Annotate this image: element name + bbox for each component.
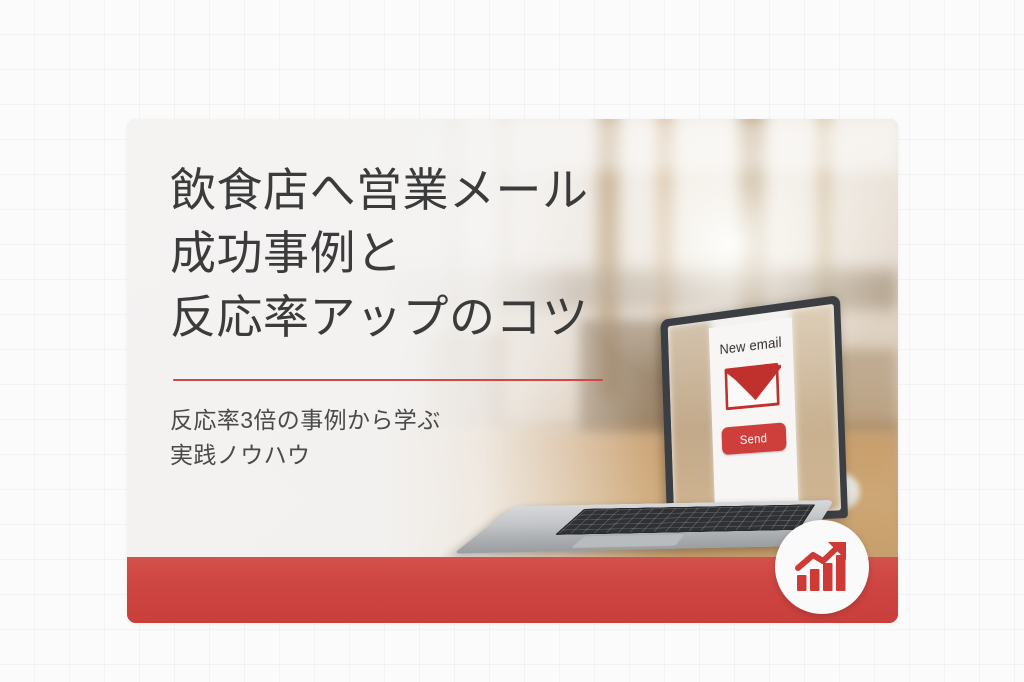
banner-title-line-2: 成功事例と bbox=[170, 222, 770, 285]
page-background: New email Send bbox=[0, 0, 1024, 682]
banner-subtitle-line-1: 反応率3倍の事例から学ぶ bbox=[170, 403, 770, 438]
banner-text-column: 飲食店へ営業メール 成功事例と 反応率アップのコツ 反応率3倍の事例から学ぶ 実… bbox=[170, 159, 770, 473]
growth-chart-badge bbox=[775, 520, 869, 614]
banner-card: New email Send bbox=[127, 119, 898, 623]
growth-chart-arrow-up-icon bbox=[794, 540, 850, 594]
laptop-trackpad[interactable] bbox=[570, 533, 686, 548]
banner-title-line-1: 飲食店へ営業メール bbox=[170, 159, 770, 222]
banner-title-line-3: 反応率アップのコツ bbox=[170, 286, 770, 349]
screen-reflection-right bbox=[791, 304, 841, 512]
red-divider-line bbox=[173, 379, 603, 381]
laptop-keyboard-deck bbox=[454, 500, 834, 554]
banner-subtitle-line-2: 実践ノウハウ bbox=[170, 438, 770, 473]
laptop-keyboard[interactable] bbox=[555, 505, 816, 535]
